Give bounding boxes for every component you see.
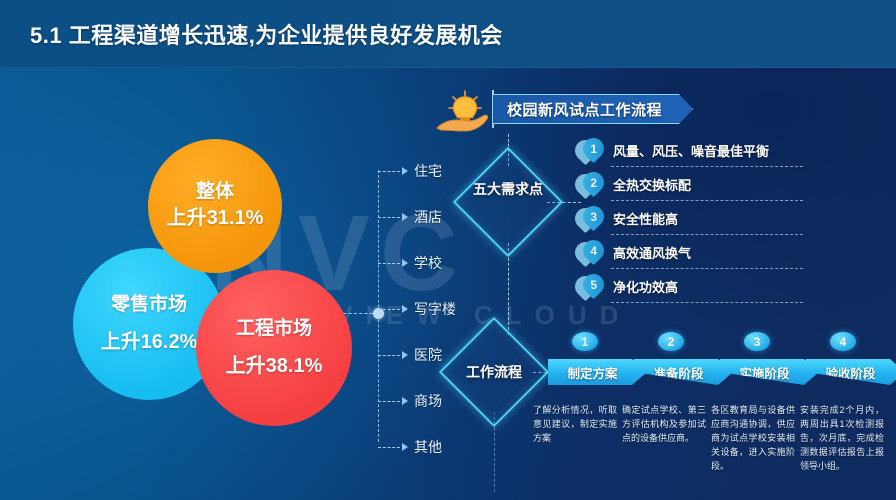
need-number: 3: [590, 210, 597, 224]
needs-diamond-label: 五大需求点: [465, 181, 551, 198]
arrow-right-icon: [402, 213, 408, 221]
segment-label: 写字楼: [414, 299, 456, 319]
step-description-1: 了解分析情况，听取意见建议，制定实施方案: [533, 404, 617, 492]
branch-line: [378, 447, 400, 448]
bubble-overall-value: 上升31.1%: [167, 206, 264, 232]
step-label: 实施阶段: [739, 363, 799, 382]
arrow-right-icon: [402, 305, 408, 313]
workflow-steps: 制定方案 准备阶段 实施阶段 验收阶段: [548, 352, 892, 392]
step-chevron-1[interactable]: 制定方案: [548, 359, 647, 385]
step-descriptions: 了解分析情况，听取意见建议，制定实施方案 确定试点学校、第三方评估机构及参加试点…: [533, 404, 888, 492]
step-label: 准备阶段: [653, 363, 713, 382]
segment-item-school[interactable]: 学校: [378, 252, 442, 274]
segment-label: 酒店: [414, 207, 442, 227]
need-item[interactable]: 1 风量、风压、噪音最佳平衡: [575, 133, 890, 167]
arrow-right-icon: [402, 351, 408, 359]
bubble-retail-label: 零售市场: [111, 293, 187, 317]
segment-item-office[interactable]: 写字楼: [378, 298, 456, 320]
arrow-right-icon: [402, 167, 408, 175]
branch-line: [378, 217, 400, 218]
arrow-right-icon: [402, 443, 408, 451]
need-item[interactable]: 4 高效通风换气: [575, 235, 890, 269]
need-label: 安全性能高: [613, 209, 678, 228]
branch-line: [378, 263, 400, 264]
step-description-3: 各区教育局与设备供应商沟通协调，供应商为试点学校安装相关设备，进入实施阶段。: [711, 404, 795, 492]
step-chevron-4[interactable]: 验收阶段: [806, 359, 896, 385]
flow-banner-title: 校园新风试点工作流程: [492, 94, 693, 124]
bubble-retail-value: 上升16.2%: [101, 330, 198, 356]
step-description-2: 确定试点学校、第三方评估机构及参加试点的设备供应商。: [622, 404, 706, 492]
bubble-overall-label: 整体: [196, 180, 234, 204]
segment-item-other[interactable]: 其他: [378, 436, 442, 458]
arrow-right-icon: [402, 397, 408, 405]
segment-item-hospital[interactable]: 医院: [378, 344, 442, 366]
segment-label: 学校: [414, 253, 442, 273]
pin-badge-icon: 5: [575, 272, 605, 300]
segment-label: 商场: [414, 391, 442, 411]
need-number: 5: [590, 278, 597, 292]
needs-list: 1 风量、风压、噪音最佳平衡 2 全热交换标配 3 安全性能高 4: [575, 133, 890, 303]
branch-line: [378, 401, 400, 402]
branch-line: [378, 309, 400, 310]
step-description-4: 安装完成2个月内，两周出具1次检测报告，次月底，完成检测数据评估报告上报领导小组…: [800, 404, 884, 492]
pin-badge-icon: 3: [575, 204, 605, 232]
step-chevron-3[interactable]: 实施阶段: [720, 359, 819, 385]
step-badges: 1 2 3 4: [548, 332, 892, 354]
need-label: 净化功效高: [613, 277, 678, 296]
flow-header: 校园新风试点工作流程: [430, 88, 690, 134]
bubble-project-value: 上升38.1%: [226, 354, 323, 380]
need-label: 风量、风压、噪音最佳平衡: [613, 141, 769, 160]
need-label: 高效通风换气: [613, 243, 691, 262]
branch-line: [378, 171, 400, 172]
lightbulb-hand-icon: [432, 88, 500, 134]
segment-label: 其他: [414, 437, 442, 457]
branch-line: [378, 355, 400, 356]
step-chevron-2[interactable]: 准备阶段: [634, 359, 733, 385]
step-badge-2: 2: [658, 332, 684, 351]
need-item[interactable]: 5 净化功效高: [575, 269, 890, 303]
need-item[interactable]: 3 安全性能高: [575, 201, 890, 235]
arrow-right-icon: [402, 259, 408, 267]
need-number: 2: [590, 176, 597, 190]
step-badge-3: 3: [744, 332, 770, 351]
title-band: 5.1 工程渠道增长迅速,为企业提供良好发展机会: [0, 0, 896, 68]
pin-badge-icon: 4: [575, 238, 605, 266]
pin-badge-icon: 1: [575, 136, 605, 164]
need-number: 4: [590, 244, 597, 258]
segment-item-residential[interactable]: 住宅: [378, 160, 442, 182]
bubble-project: 工程市场 上升38.1%: [196, 270, 352, 426]
step-badge-4: 4: [830, 332, 856, 351]
pin-badge-icon: 2: [575, 170, 605, 198]
segment-label: 住宅: [414, 161, 442, 181]
need-label: 全热交换标配: [613, 175, 691, 194]
page-title: 5.1 工程渠道增长迅速,为企业提供良好发展机会: [30, 18, 503, 50]
segment-item-mall[interactable]: 商场: [378, 390, 442, 412]
need-divider: [611, 302, 803, 303]
need-item[interactable]: 2 全热交换标配: [575, 167, 890, 201]
step-label: 制定方案: [567, 363, 627, 382]
workflow-diamond-label: 工作流程: [451, 364, 537, 381]
bubble-project-label: 工程市场: [236, 317, 312, 341]
segment-label: 医院: [414, 345, 442, 365]
bubble-overall: 整体 上升31.1%: [148, 139, 282, 273]
need-number: 1: [590, 142, 597, 156]
segment-item-hotel[interactable]: 酒店: [378, 206, 442, 228]
step-label: 验收阶段: [825, 363, 885, 382]
slide-canvas: 5.1 工程渠道增长迅速,为企业提供良好发展机会 NVC ALL VIEW CL…: [0, 0, 896, 500]
step-badge-1: 1: [572, 332, 598, 351]
